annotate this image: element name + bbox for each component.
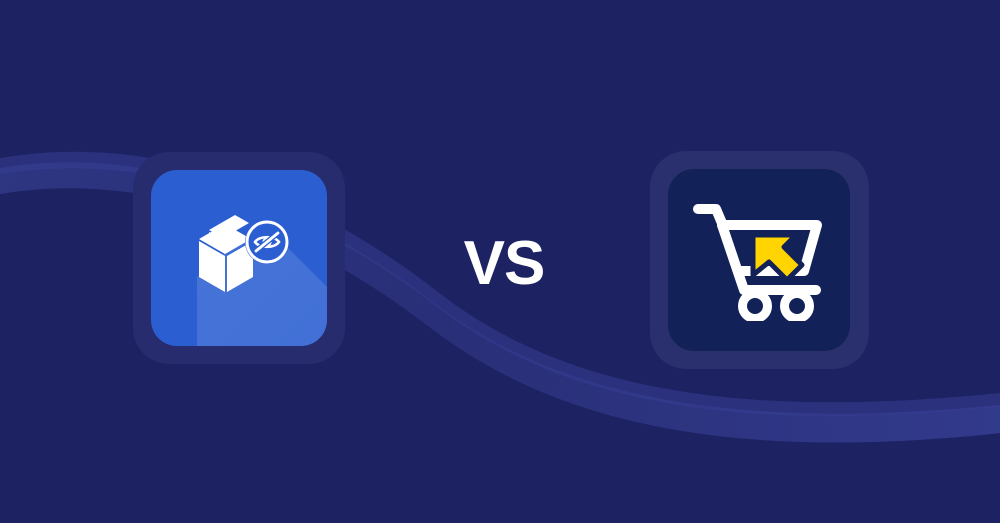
right-app-tile[interactable] bbox=[668, 169, 850, 351]
comparison-banner: VS bbox=[0, 0, 1000, 523]
left-app-tile[interactable] bbox=[151, 170, 327, 346]
comparison-row: VS bbox=[0, 0, 1000, 523]
versus-label: VS bbox=[456, 233, 552, 295]
shopping-cart-cursor-icon bbox=[692, 199, 827, 321]
hidden-product-box-icon bbox=[187, 212, 291, 304]
